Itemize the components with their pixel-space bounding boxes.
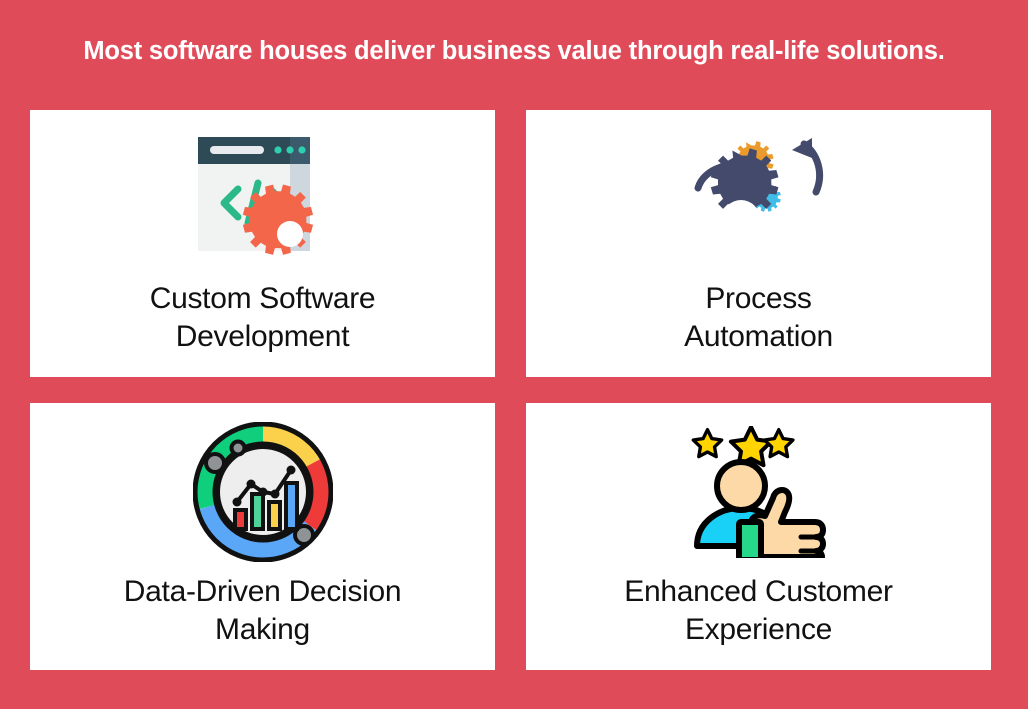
analytics-donut-chart-icon [30, 417, 495, 567]
card-label: Custom Software Development [122, 280, 404, 355]
person-head [717, 462, 765, 510]
card-custom-software-development[interactable]: Custom Software Development [30, 110, 495, 377]
code-window-gear-icon-svg [194, 129, 332, 269]
gear-navy [710, 148, 778, 238]
card-label: Process Automation [656, 280, 861, 355]
customer-satisfaction-thumbsup-icon [526, 417, 991, 567]
gears-automation-icon-svg [688, 134, 830, 264]
service-card-grid: Custom Software Development [30, 110, 998, 670]
analytics-donut-chart-icon-svg [193, 422, 333, 562]
customer-satisfaction-thumbsup-icon-svg [689, 426, 829, 558]
code-window-gear-icon [30, 124, 495, 274]
card-enhanced-customer-experience[interactable]: Enhanced Customer Experience [526, 403, 991, 670]
card-process-automation[interactable]: Process Automation [526, 110, 991, 377]
card-label: Enhanced Customer Experience [596, 573, 920, 648]
card-label: Data-Driven Decision Making [96, 573, 429, 648]
gear-shape [242, 185, 312, 255]
infographic-page: Most software houses deliver business va… [0, 0, 1028, 709]
page-title: Most software houses deliver business va… [0, 36, 1028, 67]
card-data-driven-decision-making[interactable]: Data-Driven Decision Making [30, 403, 495, 670]
sleeve-cuff [739, 522, 761, 558]
gears-automation-icon [526, 124, 991, 274]
arrow-head-up [792, 138, 812, 158]
